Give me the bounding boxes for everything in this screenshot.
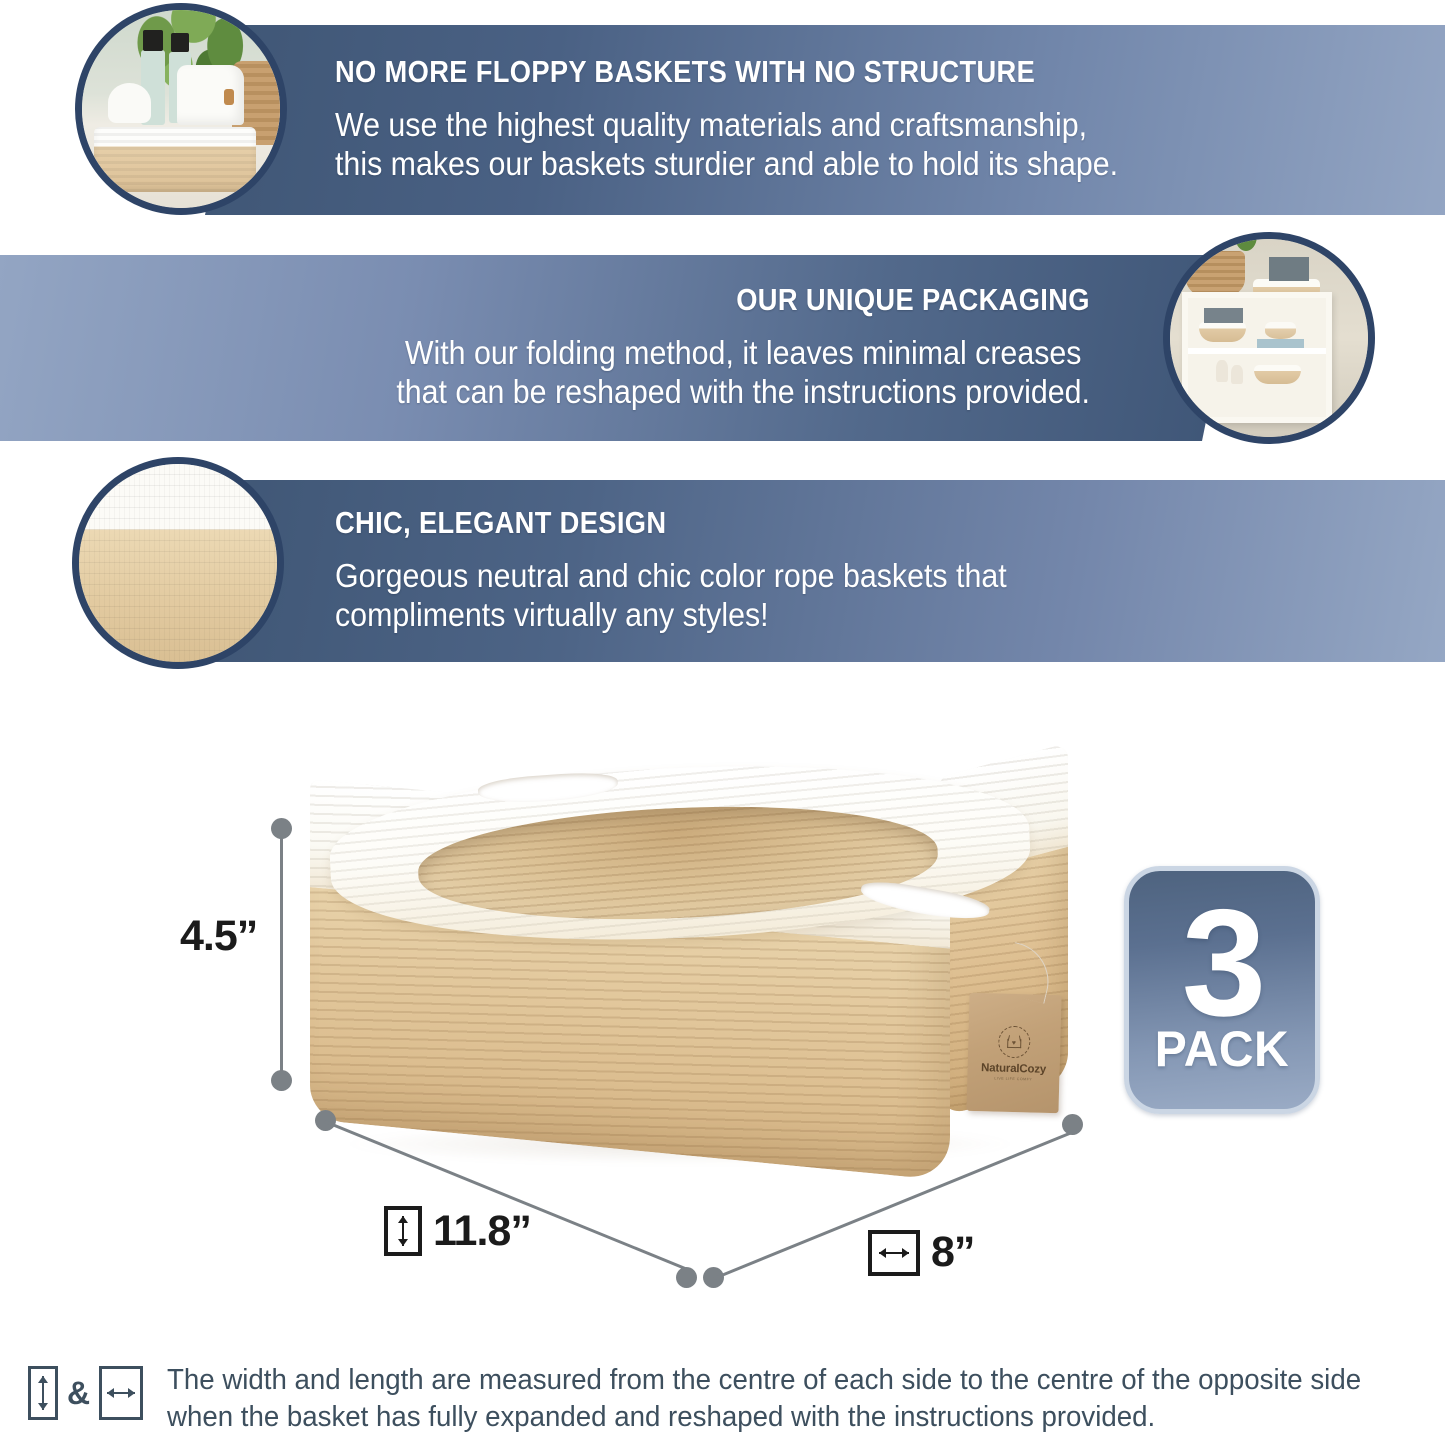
feature-1-body: We use the highest quality materials and…	[335, 105, 1329, 184]
hang-tag: ♥ NaturalCozy LIVE LIFE COMFY	[966, 993, 1061, 1113]
feature-2-thumbnail	[1163, 232, 1375, 444]
vertical-measure-box-icon	[384, 1206, 422, 1256]
books-stack	[1257, 339, 1304, 348]
width-dim-label: 8”	[868, 1228, 974, 1277]
bowl-icon	[1265, 322, 1295, 339]
feature-2-title: OUR UNIQUE PACKAGING	[736, 284, 1090, 317]
house-with-heart-icon: ♥	[998, 1025, 1031, 1058]
rope-texture	[79, 464, 277, 662]
height-dim-label: 4.5”	[180, 912, 257, 961]
bookshelf-photo	[1170, 239, 1368, 437]
feature-2-body: With our folding method, it leaves minim…	[396, 333, 1090, 412]
feature-banner-3: CHIC, ELEGANT DESIGN Gorgeous neutral an…	[205, 480, 1445, 662]
magazines-stack	[1204, 308, 1243, 323]
width-dim-dot-end	[1062, 1114, 1083, 1135]
washcloth-icon	[108, 83, 152, 123]
potted-plant-icon	[1186, 251, 1245, 299]
height-dim-value: 4.5”	[180, 912, 257, 961]
length-dim-value: 11.8”	[433, 1207, 531, 1256]
shelf-divider	[1188, 348, 1326, 354]
brand-tagline: LIVE LIFE COMFY	[994, 1076, 1032, 1081]
height-dim-dot-bottom	[271, 1070, 292, 1091]
pack-count-word: PACK	[1155, 1024, 1289, 1074]
horizontal-measure-box-icon	[99, 1366, 143, 1420]
rope-basket-icon	[94, 127, 256, 192]
towel-icon	[177, 65, 244, 124]
vertical-measure-box-icon	[28, 1366, 58, 1420]
pack-count-badge: 3 PACK	[1124, 866, 1320, 1114]
rope-weave-closeup-photo	[79, 464, 277, 662]
shelf-basket-2	[1254, 365, 1301, 384]
length-dim-dot-end	[676, 1267, 697, 1288]
measurement-note: & The width and length are measured from…	[0, 1362, 1445, 1432]
feature-3-thumbnail	[72, 457, 284, 669]
feature-3-title: CHIC, ELEGANT DESIGN	[335, 507, 1285, 540]
width-dim-value: 8”	[931, 1228, 974, 1277]
basket-toiletries-photo	[82, 10, 280, 208]
feature-banner-1: NO MORE FLOPPY BASKETS WITH NO STRUCTURE…	[205, 25, 1445, 215]
brand-name: NaturalCozy	[981, 1062, 1046, 1076]
rope-basket-product-image: ♥ NaturalCozy LIVE LIFE COMFY	[300, 770, 1060, 1190]
ampersand: &	[67, 1375, 90, 1412]
shelf-basket-1	[1199, 322, 1246, 342]
bookshelf-icon	[1182, 292, 1332, 423]
feature-1-title: NO MORE FLOPPY BASKETS WITH NO STRUCTURE	[335, 56, 1285, 89]
feature-3-body: Gorgeous neutral and chic color rope bas…	[335, 556, 1329, 635]
height-dim-line	[280, 828, 283, 1080]
magazine-icon	[1269, 257, 1309, 281]
measurement-note-text: The width and length are measured from t…	[167, 1362, 1361, 1436]
horizontal-measure-box-icon	[868, 1230, 920, 1276]
footer-icon-group: &	[28, 1366, 143, 1420]
vase-icon-1	[1216, 360, 1228, 381]
vase-icon-2	[1231, 365, 1243, 384]
length-dim-label: 11.8”	[384, 1206, 531, 1256]
feature-banner-2: OUR UNIQUE PACKAGING With our folding me…	[0, 255, 1240, 441]
pack-count-number: 3	[1182, 900, 1263, 1028]
heart-glyph: ♥	[1012, 1041, 1017, 1046]
feature-1-thumbnail	[75, 3, 287, 215]
